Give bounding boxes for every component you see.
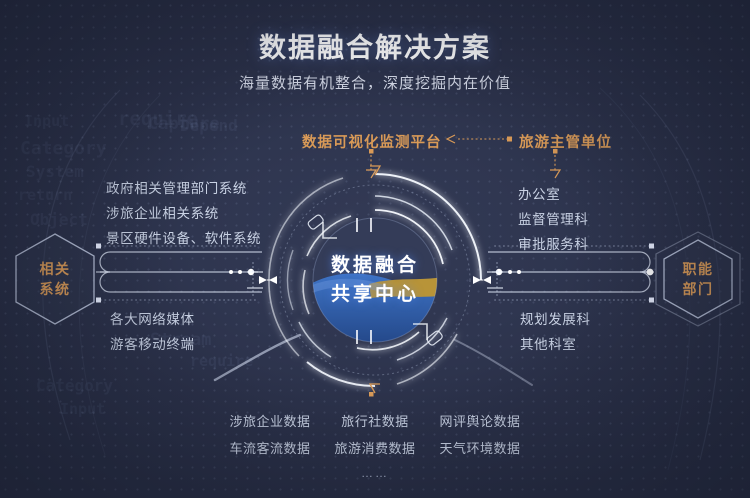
page-subtitle: 海量数据有机整合，深度挖掘内在价值	[0, 72, 750, 93]
list-item[interactable]: 其他科室	[520, 332, 591, 357]
hexagon-left-label: 相关 系统	[12, 231, 98, 327]
label-tourism-authority[interactable]: 旅游主管单位	[519, 131, 612, 152]
list-left-top: 政府相关管理部门系统 涉旅企业相关系统 景区硬件设备、软件系统	[106, 176, 261, 251]
list-left-bottom: 各大网络媒体 游客移动终端	[110, 307, 195, 357]
data-cell[interactable]: 旅游消费数据	[323, 435, 428, 462]
list-item[interactable]: 游客移动终端	[110, 332, 195, 357]
data-cell[interactable]: 车流客流数据	[218, 435, 323, 462]
bg-code-word: Capture	[148, 114, 220, 134]
core-rings	[247, 158, 503, 402]
bg-code-word: require	[190, 352, 253, 370]
ellipsis-indicator: ……	[361, 466, 389, 480]
list-item[interactable]: 政府相关管理部门系统	[106, 176, 261, 201]
hex-left-line2: 系统	[40, 279, 71, 299]
list-item[interactable]: 涉旅企业相关系统	[106, 201, 261, 226]
list-item[interactable]: 各大网络媒体	[110, 307, 195, 332]
bottom-data-grid: 涉旅企业数据 旅行社数据 网评舆论数据 车流客流数据 旅游消费数据 天气环境数据…	[0, 408, 750, 480]
table-row: 涉旅企业数据 旅行社数据 网评舆论数据	[218, 408, 533, 435]
data-fusion-core[interactable]: 数据融合 共享中心	[247, 158, 503, 402]
data-cell[interactable]: 旅行社数据	[323, 408, 428, 435]
infographic-root: require Depend Input Capture Category Sy…	[0, 0, 750, 498]
bg-code-word: Input	[24, 112, 69, 130]
list-right-bottom: 规划发展科 其他科室	[520, 307, 591, 357]
list-item[interactable]: 规划发展科	[520, 307, 591, 332]
bg-code-word: return	[18, 186, 72, 204]
data-cell[interactable]: 天气环境数据	[428, 435, 533, 462]
bg-code-word: Category	[36, 376, 113, 395]
list-item[interactable]: 办公室	[518, 182, 589, 207]
bg-code-word: Depend	[180, 116, 238, 135]
data-cell[interactable]: 涉旅企业数据	[218, 408, 323, 435]
bg-code-word: Category	[20, 138, 107, 159]
hexagon-functional-departments[interactable]: 职能 部门	[655, 231, 741, 327]
hexagon-right-label: 职能 部门	[655, 231, 741, 327]
hex-right-line2: 部门	[683, 279, 714, 299]
list-right-top: 办公室 监督管理科 审批服务科	[518, 182, 589, 257]
hex-left-line1: 相关	[40, 259, 71, 279]
bg-code-word: require	[118, 108, 198, 130]
list-item[interactable]: 景区硬件设备、软件系统	[106, 226, 261, 251]
table-row: 车流客流数据 旅游消费数据 天气环境数据	[218, 435, 533, 462]
hexagon-related-systems[interactable]: 相关 系统	[12, 231, 98, 327]
bg-code-word: Object	[30, 210, 88, 229]
bg-code-word: System	[26, 162, 84, 181]
list-item[interactable]: 审批服务科	[518, 232, 589, 257]
hex-right-line1: 职能	[683, 259, 714, 279]
list-item[interactable]: 监督管理科	[518, 207, 589, 232]
data-cell[interactable]: 网评舆论数据	[428, 408, 533, 435]
label-visualization-platform[interactable]: 数据可视化监测平台	[302, 131, 442, 152]
page-title: 数据融合解决方案	[0, 26, 750, 65]
